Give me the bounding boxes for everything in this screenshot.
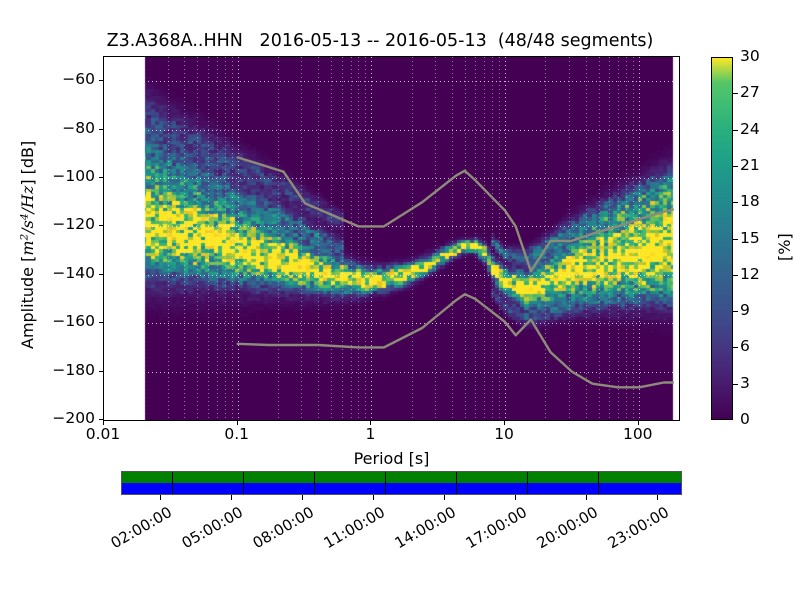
coverage-tick-mark: [373, 495, 374, 500]
x-tick-mark: [370, 421, 371, 425]
coverage-tick-label: 17:00:00: [459, 503, 530, 555]
colorbar-tick-label: 15: [740, 229, 760, 247]
coverage-tick-label: 08:00:00: [246, 503, 317, 555]
colorbar-tick-mark: [733, 311, 738, 312]
colorbar-tick-mark: [733, 347, 738, 348]
colorbar-tick-mark: [733, 202, 738, 203]
ppsd-axes-inner: [104, 57, 679, 420]
x-tick-mark: [237, 421, 238, 425]
coverage-segment-divider: [385, 472, 386, 494]
x-tick-mark: [103, 421, 104, 425]
y-tick-mark: [99, 177, 103, 178]
coverage-segment-divider: [456, 472, 457, 494]
y-tick-label: −60: [62, 70, 95, 88]
y-tick-label: −120: [52, 215, 95, 233]
colorbar-tick-mark: [733, 166, 738, 167]
coverage-tick-mark: [160, 495, 161, 500]
coverage-tick-mark: [302, 495, 303, 500]
coverage-tick-label: 02:00:00: [104, 503, 175, 555]
y-tick-label: −80: [62, 119, 95, 137]
coverage-tick-label: 11:00:00: [317, 503, 388, 555]
y-tick-mark: [99, 371, 103, 372]
colorbar-tick-mark: [733, 93, 738, 94]
noise-model-lines: [104, 57, 679, 420]
x-tick-label: 0.1: [197, 425, 277, 443]
y-axis-label: Amplitude [m2/s4/Hz] [dB]: [18, 140, 37, 348]
y-tick-mark: [99, 225, 103, 226]
y-tick-mark: [99, 274, 103, 275]
colorbar-tick-label: 21: [740, 156, 760, 174]
ppsd-axes: [103, 56, 680, 421]
colorbar-tick-label: 30: [740, 47, 760, 65]
colorbar-tick-mark: [733, 239, 738, 240]
y-tick-mark: [99, 322, 103, 323]
coverage-tick-label: 20:00:00: [530, 503, 601, 555]
coverage-segment-divider: [172, 472, 173, 494]
coverage-tick-mark: [657, 495, 658, 500]
x-tick-label: 0.01: [63, 425, 143, 443]
colorbar-tick-label: 12: [740, 265, 760, 283]
coverage-segment-divider: [527, 472, 528, 494]
colorbar-tick-label: 9: [740, 301, 750, 319]
y-tick-mark: [99, 80, 103, 81]
colorbar-tick-mark: [733, 130, 738, 131]
y-tick-mark: [99, 129, 103, 130]
coverage-tick-label: 23:00:00: [601, 503, 672, 555]
noise-model-nhnm: [238, 157, 673, 271]
colorbar-tick-label: 24: [740, 120, 760, 138]
x-tick-label: 1: [330, 425, 410, 443]
colorbar-tick-label: 18: [740, 192, 760, 210]
colorbar-tick-label: 6: [740, 337, 750, 355]
coverage-tick-mark: [515, 495, 516, 500]
colorbar-tick-label: 0: [740, 410, 750, 428]
colorbar-tick-label: 3: [740, 374, 750, 392]
coverage-bar: [121, 471, 682, 495]
page-title: Z3.A368A..HHN 2016-05-13 -- 2016-05-13 (…: [0, 31, 760, 51]
y-tick-mark: [99, 419, 103, 420]
x-tick-mark: [504, 421, 505, 425]
colorbar-tick-mark: [733, 275, 738, 276]
y-tick-label: −100: [52, 167, 95, 185]
colorbar: [711, 57, 733, 420]
coverage-tick-label: 05:00:00: [175, 503, 246, 555]
noise-model-nlnm: [238, 294, 673, 387]
coverage-segment-divider: [598, 472, 599, 494]
y-tick-label: −180: [52, 361, 95, 379]
x-tick-label: 10: [464, 425, 544, 443]
y-tick-label: −160: [52, 312, 95, 330]
colorbar-label: [%]: [775, 233, 794, 261]
coverage-tick-mark: [444, 495, 445, 500]
coverage-segment-divider: [314, 472, 315, 494]
x-axis-label: Period [s]: [103, 449, 680, 468]
coverage-tick-mark: [586, 495, 587, 500]
coverage-segment-divider: [243, 472, 244, 494]
coverage-tick-mark: [231, 495, 232, 500]
coverage-tick-label: 14:00:00: [388, 503, 459, 555]
ppsd-plot-figure: Z3.A368A..HHN 2016-05-13 -- 2016-05-13 (…: [0, 0, 800, 600]
x-tick-label: 100: [598, 425, 678, 443]
y-tick-label: −140: [52, 264, 95, 282]
colorbar-tick-label: 27: [740, 83, 760, 101]
x-tick-mark: [638, 421, 639, 425]
colorbar-tick-mark: [733, 384, 738, 385]
